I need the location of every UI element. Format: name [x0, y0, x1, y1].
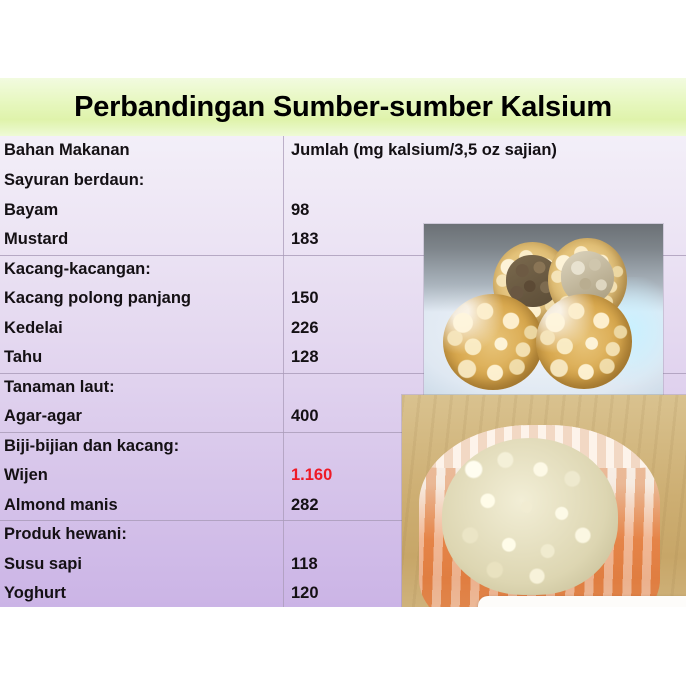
- row-value: 226: [291, 314, 319, 344]
- row-value: 118: [291, 550, 318, 580]
- page-title: Perbandingan Sumber-sumber Kalsium: [0, 78, 686, 136]
- row-value: 98: [291, 196, 309, 226]
- sesame-balls-photo: [424, 224, 663, 399]
- slide-content-clip: Perbandingan Sumber-sumber Kalsium Bahan…: [0, 78, 686, 607]
- row-value: 120: [291, 579, 319, 607]
- table-row: Sayuran berdaun:: [0, 166, 686, 196]
- row-value: 183: [291, 225, 319, 255]
- row-value: 128: [291, 343, 319, 373]
- row-food-label: Almond manis: [4, 491, 118, 521]
- sesame-seeds-photo: [402, 395, 686, 607]
- row-food-label: Kacang polong panjang: [4, 284, 191, 314]
- row-food-label: Tahu: [4, 343, 42, 373]
- row-group-label: Kacang-kacangan:: [4, 255, 151, 285]
- row-food-label: Yoghurt: [4, 579, 66, 607]
- row-food-label: Kedelai: [4, 314, 63, 344]
- sesame-ball-front-right: [536, 294, 632, 389]
- row-value: 400: [291, 402, 319, 432]
- row-food-label: Mustard: [4, 225, 68, 255]
- sesame-seed-mound: [442, 438, 618, 595]
- table-header-row: Bahan Makanan Jumlah (mg kalsium/3,5 oz …: [0, 136, 686, 166]
- row-value-highlighted: 1.160: [291, 461, 332, 491]
- table-row: Bayam98: [0, 196, 686, 226]
- sesame-seed-texture: [536, 294, 632, 389]
- row-food-label: Wijen: [4, 461, 48, 491]
- row-group-label: Biji-bijian dan kacang:: [4, 432, 179, 462]
- row-food-label: Agar-agar: [4, 402, 82, 432]
- row-food-label: Bayam: [4, 196, 58, 226]
- header-cell-food: Bahan Makanan: [4, 136, 130, 166]
- header-cell-amount: Jumlah (mg kalsium/3,5 oz sajian): [291, 136, 557, 166]
- row-group-label: Tanaman laut:: [4, 373, 115, 403]
- slide-root: Perbandingan Sumber-sumber Kalsium Bahan…: [0, 0, 686, 686]
- row-group-label: Produk hewani:: [4, 520, 127, 550]
- title-band: Perbandingan Sumber-sumber Kalsium: [0, 78, 686, 136]
- source-line-1: Sumber : Chris Teo, Food: [500, 605, 665, 607]
- sesame-ball-front-left: [443, 294, 543, 390]
- row-value: 150: [291, 284, 319, 314]
- row-group-label: Sayuran berdaun:: [4, 166, 144, 196]
- source-caption: Sumber : Chris Teo, Food and Cancer (200…: [478, 596, 686, 607]
- sesame-seed-texture: [443, 294, 543, 390]
- calcium-sources-table: Bahan Makanan Jumlah (mg kalsium/3,5 oz …: [0, 136, 686, 607]
- row-food-label: Susu sapi: [4, 550, 82, 580]
- row-value: 282: [291, 491, 319, 521]
